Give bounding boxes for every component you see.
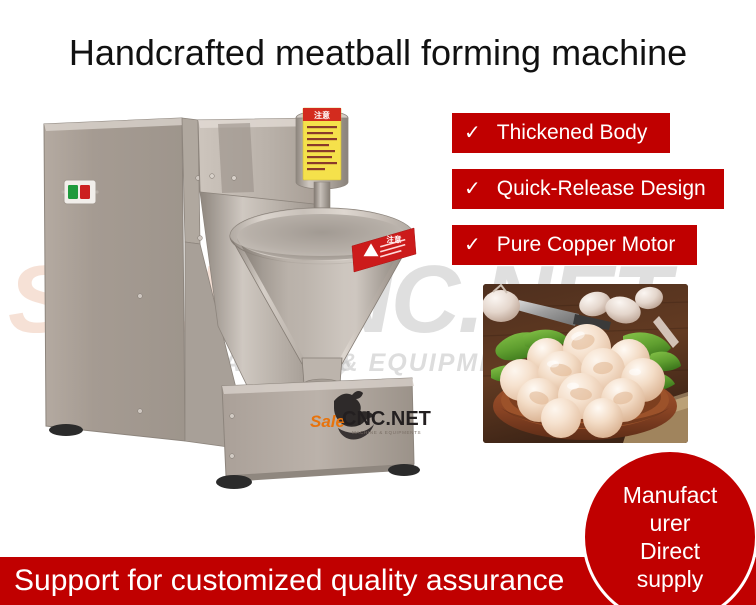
feature-item-thickened-body[interactable]: ✓ Thickened Body [452, 113, 670, 153]
feature-list: ✓ Thickened Body ✓ Quick-Release Design … [452, 113, 724, 281]
badge-line-3: Direct [610, 537, 730, 565]
svg-text:CNC.NET: CNC.NET [342, 408, 431, 430]
svg-text:Sale: Sale [310, 412, 345, 431]
red-stop-button [80, 185, 90, 199]
badge-text: Manufact urer Direct supply [610, 481, 730, 593]
feature-label: Pure Copper Motor [497, 233, 676, 257]
page-title: Handcrafted meatball forming machine [0, 32, 756, 74]
svg-text:MACHINE & EQUIPMENTS: MACHINE & EQUIPMENTS [352, 430, 421, 435]
check-icon: ✓ [464, 179, 481, 199]
badge-line-4: supply [610, 565, 730, 593]
bottom-banner-text: Support for customized quality assurance [14, 564, 564, 598]
badge-line-1: Manufact [610, 481, 730, 509]
svg-text:注意: 注意 [314, 110, 330, 120]
feature-item-quick-release-design[interactable]: ✓ Quick-Release Design [452, 169, 724, 209]
warning-label-yellow: 注意 [303, 108, 341, 180]
check-icon: ✓ [464, 235, 481, 255]
feature-item-pure-copper-motor[interactable]: ✓ Pure Copper Motor [452, 225, 697, 265]
feature-label: Quick-Release Design [497, 177, 706, 201]
green-start-button [68, 185, 78, 199]
manufacturer-direct-supply-badge: Manufact urer Direct supply [582, 449, 756, 605]
meatball-product-photo [483, 284, 688, 443]
product-machine-image: 注意 [22, 96, 454, 496]
badge-line-2: urer [610, 509, 730, 537]
product-marketing-banner: SALECNC.NET MACHINE & EQUIPMENTS Handcra… [0, 0, 756, 605]
control-panel [61, 180, 98, 204]
check-icon: ✓ [464, 123, 481, 143]
feature-label: Thickened Body [497, 121, 648, 145]
